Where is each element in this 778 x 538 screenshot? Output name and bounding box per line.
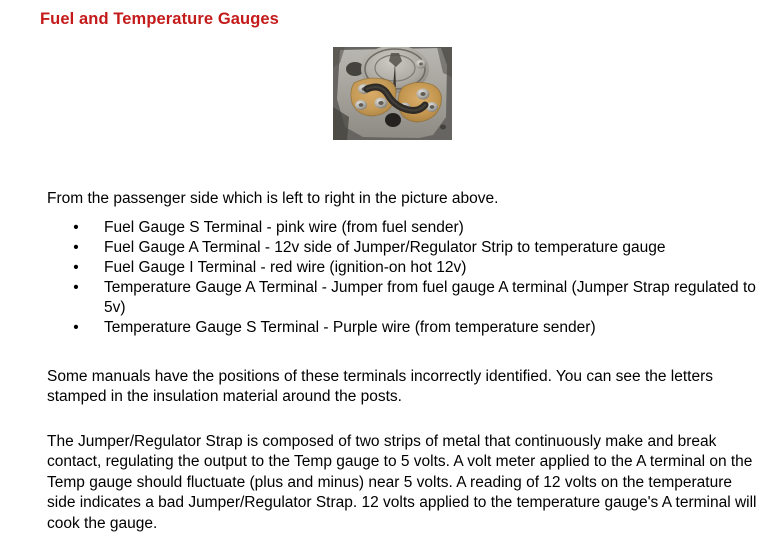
list-item: • Fuel Gauge S Terminal - pink wire (fro… — [47, 218, 759, 238]
list-item-label: Temperature Gauge A Terminal - Jumper fr… — [104, 279, 756, 316]
list-item: • Temperature Gauge A Terminal - Jumper … — [47, 278, 759, 317]
gauge-terminals-illustration — [333, 47, 452, 140]
list-item-label: Fuel Gauge I Terminal - red wire (igniti… — [104, 259, 466, 276]
jumper-strap-paragraph: The Jumper/Regulator Strap is composed o… — [47, 432, 763, 535]
page-title: Fuel and Temperature Gauges — [40, 10, 279, 29]
list-item-label: Fuel Gauge A Terminal - 12v side of Jump… — [104, 239, 665, 256]
bullet-icon: • — [72, 318, 80, 338]
list-item-label: Temperature Gauge S Terminal - Purple wi… — [104, 319, 596, 336]
bullet-icon: • — [72, 218, 80, 238]
manuals-note-paragraph: Some manuals have the positions of these… — [47, 367, 763, 407]
bullet-icon: • — [72, 238, 80, 258]
list-item-label: Fuel Gauge S Terminal - pink wire (from … — [104, 219, 464, 236]
terminal-list: • Fuel Gauge S Terminal - pink wire (fro… — [47, 218, 759, 338]
list-item: • Fuel Gauge A Terminal - 12v side of Ju… — [47, 238, 759, 258]
list-item: • Temperature Gauge S Terminal - Purple … — [47, 318, 759, 338]
gauge-terminals-photo — [333, 47, 452, 140]
intro-paragraph: From the passenger side which is left to… — [47, 189, 747, 209]
center-hole — [385, 113, 401, 127]
bullet-icon: • — [72, 278, 80, 298]
bullet-icon: • — [72, 258, 80, 278]
list-item: • Fuel Gauge I Terminal - red wire (igni… — [47, 258, 759, 278]
